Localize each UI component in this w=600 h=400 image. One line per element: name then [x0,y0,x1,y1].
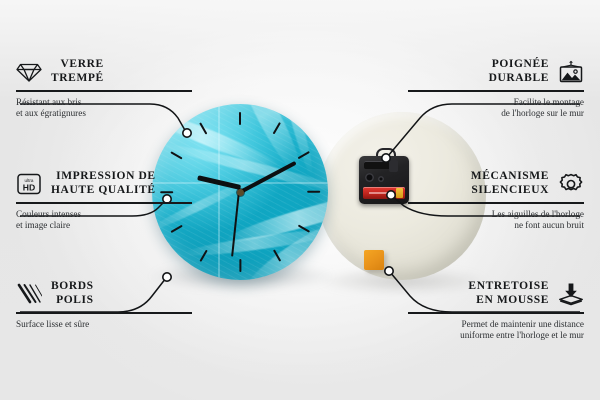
connector-dot-mecanisme [387,191,395,199]
feature-heading: POIGNÉE DURABLE [408,58,584,85]
infographic-canvas: VERRE TREMPÉ Résistant aux bris et aux é… [0,0,600,400]
feature-entretoise-en-mousse: ENTRETOISE EN MOUSSE Permet de maintenir… [408,280,584,341]
feature-heading: ENTRETOISE EN MOUSSE [408,280,584,307]
svg-text:HD: HD [23,182,35,192]
feature-title: BORDS POLIS [51,280,94,307]
feature-description: Résistant aux bris et aux égratignures [16,97,192,120]
feature-description: Surface lisse et sûre [16,319,192,330]
hanging-frame-icon [558,60,584,84]
foam-spacer-icon [558,282,584,306]
feature-title: VERRE TREMPÉ [51,58,104,85]
feature-bords-polis: BORDS POLIS Surface lisse et sûre [16,280,192,330]
ultra-hd-icon: ultra HD [16,172,42,196]
polished-edges-icon [16,282,42,306]
feature-impression-haute-qualite: ultra HD IMPRESSION DE HAUTE QUALITÉ Cou… [16,170,192,231]
connector-dot-verre [183,129,191,137]
feature-title: MÉCANISME SILENCIEUX [408,170,549,197]
feature-divider [408,312,584,314]
gear-icon [558,172,584,196]
feature-divider [16,90,192,92]
feature-divider [16,202,192,204]
feature-heading: VERRE TREMPÉ [16,58,192,85]
feature-divider [16,312,192,314]
feature-description: Les aiguilles de l'horloge ne font aucun… [408,209,584,232]
feature-title: ENTRETOISE EN MOUSSE [408,280,549,307]
feature-heading: BORDS POLIS [16,280,192,307]
feature-mecanisme-silencieux: MÉCANISME SILENCIEUX Les aiguilles de l'… [408,170,584,231]
connector-dot-poignee [382,154,390,162]
feature-heading: ultra HD IMPRESSION DE HAUTE QUALITÉ [16,170,192,197]
diamond-icon [16,60,42,84]
feature-heading: MÉCANISME SILENCIEUX [408,170,584,197]
feature-divider [408,202,584,204]
feature-description: Permet de maintenir une distance uniform… [408,319,584,342]
feature-description: Facilite le montage de l'horloge sur le … [408,97,584,120]
connector-dot-entretoise [385,267,393,275]
feature-divider [408,90,584,92]
feature-description: Couleurs intenses et image claire [16,209,192,232]
feature-poignee-durable: POIGNÉE DURABLE Facilite le montage de l… [408,58,584,119]
feature-title: POIGNÉE DURABLE [408,58,549,85]
feature-verre-trempe: VERRE TREMPÉ Résistant aux bris et aux é… [16,58,192,119]
feature-title: IMPRESSION DE HAUTE QUALITÉ [51,170,156,197]
